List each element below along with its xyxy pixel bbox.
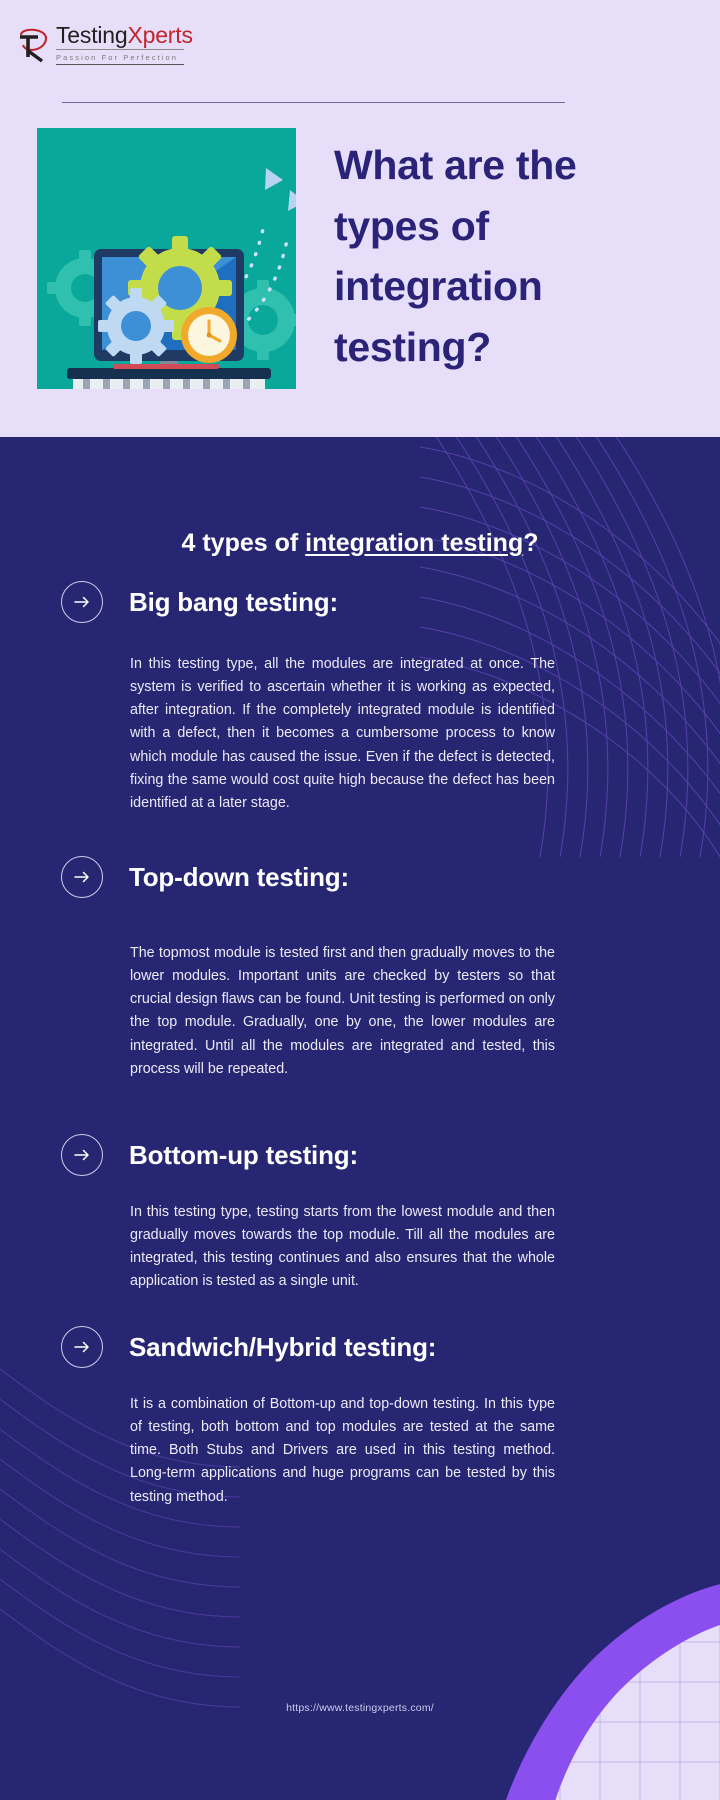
- arrow-right-circle-icon[interactable]: [61, 1326, 103, 1368]
- block-title: Big bang testing:: [129, 587, 338, 618]
- infographic-page: TestingXperts Passion For Perfection: [0, 0, 720, 1800]
- logo-rule-bottom: [56, 64, 184, 65]
- brand-wordmark: TestingXperts Passion For Perfection: [56, 23, 186, 65]
- header-divider: [62, 102, 565, 103]
- block-sandwich-hybrid: Sandwich/Hybrid testing: It is a combina…: [0, 1326, 720, 1509]
- brand-name-secondary: Xperts: [127, 22, 192, 48]
- logo-monogram-icon: [14, 26, 54, 66]
- section-heading-underlined: integration testing: [305, 529, 523, 557]
- brand-logo[interactable]: TestingXperts Passion For Perfection: [14, 20, 194, 72]
- block-body: The topmost module is tested first and t…: [130, 942, 555, 1081]
- page-title: What are the types of integration testin…: [334, 135, 674, 378]
- footer-url[interactable]: https://www.testingxperts.com/: [0, 1702, 720, 1714]
- block-header: Bottom-up testing:: [0, 1134, 720, 1176]
- section-heading-suffix: ?: [523, 529, 538, 557]
- block-title: Bottom-up testing:: [129, 1140, 358, 1171]
- block-title: Sandwich/Hybrid testing:: [129, 1332, 436, 1363]
- decorative-corner-arc: [430, 1582, 720, 1800]
- arrow-right-circle-icon[interactable]: [61, 1134, 103, 1176]
- block-header: Sandwich/Hybrid testing:: [0, 1326, 720, 1368]
- arrow-right-circle-icon[interactable]: [61, 581, 103, 623]
- content-section: 4 types of integration testing? Big bang…: [0, 437, 720, 1800]
- block-header: Big bang testing:: [0, 581, 720, 623]
- block-title: Top-down testing:: [129, 862, 349, 893]
- block-top-down: Top-down testing: The topmost module is …: [0, 856, 720, 1081]
- section-heading: 4 types of integration testing?: [0, 529, 720, 558]
- block-body: It is a combination of Bottom-up and top…: [130, 1393, 555, 1509]
- hero-illustration: [37, 128, 296, 389]
- section-heading-prefix: 4 types of: [182, 529, 306, 557]
- block-body: In this testing type, testing starts fro…: [130, 1201, 555, 1294]
- block-body: In this testing type, all the modules ar…: [130, 653, 555, 815]
- block-bottom-up: Bottom-up testing: In this testing type,…: [0, 1134, 720, 1294]
- brand-name-primary: Testing: [56, 22, 127, 48]
- logo-rule-top: [56, 49, 184, 50]
- block-big-bang: Big bang testing: In this testing type, …: [0, 581, 720, 815]
- header-section: TestingXperts Passion For Perfection: [0, 0, 720, 498]
- arrow-right-circle-icon[interactable]: [61, 856, 103, 898]
- brand-tagline: Passion For Perfection: [56, 53, 186, 62]
- block-header: Top-down testing:: [0, 856, 720, 898]
